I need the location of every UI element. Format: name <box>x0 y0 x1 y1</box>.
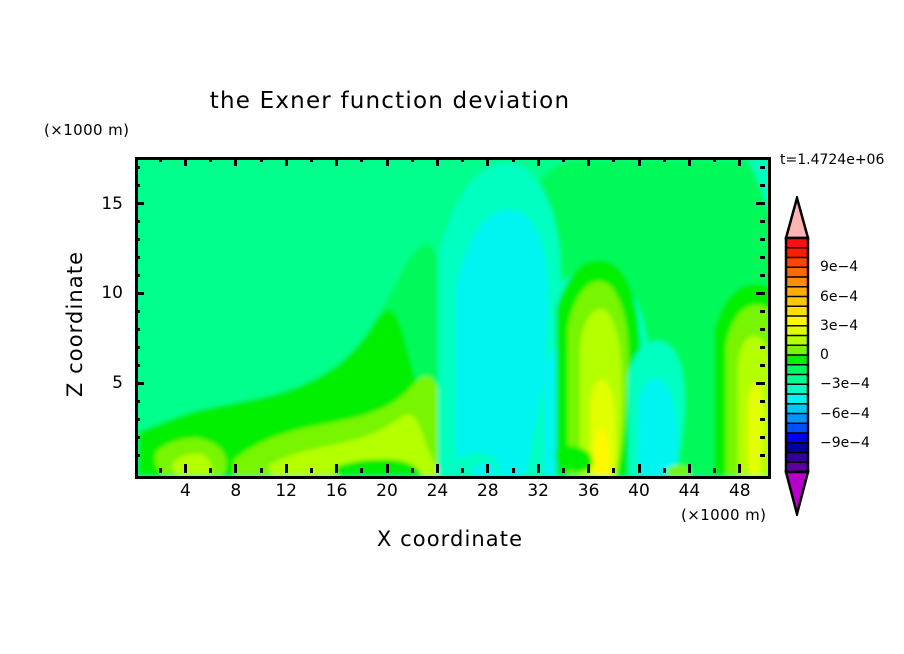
y-tick-minor <box>135 238 140 241</box>
y-tick-minor <box>135 220 140 223</box>
x-tick-label: 44 <box>679 481 701 501</box>
y-tick-major <box>135 382 144 385</box>
y-tick-major-right <box>756 382 765 385</box>
y-tick-minor-right <box>760 184 765 187</box>
colorbar-band <box>786 248 808 258</box>
y-tick-minor-right <box>760 400 765 403</box>
colorbar-tick-label: 3e−4 <box>820 318 858 334</box>
x-tick-major <box>638 464 641 473</box>
colorbar-band <box>786 404 808 414</box>
y-tick-minor-right <box>760 238 765 241</box>
y-tick-minor <box>135 256 140 259</box>
x-tick-label: 4 <box>180 481 191 501</box>
x-tick-minor <box>360 468 363 473</box>
colorbar-band <box>786 394 808 404</box>
x-tick-major <box>688 464 691 473</box>
x-tick-minor-top <box>461 157 464 162</box>
x-tick-minor <box>310 468 313 473</box>
x-tick-minor-top <box>159 157 162 162</box>
x-tick-minor-top <box>663 157 666 162</box>
colorbar-band <box>786 297 808 307</box>
timestamp-label: t=1.4724e+06 <box>780 152 884 168</box>
y-tick-minor-right <box>760 274 765 277</box>
y-tick-minor-right <box>760 328 765 331</box>
colorbar-band <box>786 453 808 463</box>
x-tick-label: 24 <box>427 481 449 501</box>
colorbar-band <box>786 306 808 316</box>
y-tick-minor <box>135 274 140 277</box>
colorbar-band <box>786 384 808 394</box>
x-tick-major-top <box>486 157 489 166</box>
y-tick-minor-right <box>760 418 765 421</box>
y-tick-minor <box>135 454 140 457</box>
colorbar-over-arrow <box>786 198 808 238</box>
x-tick-minor-top <box>713 157 716 162</box>
colorbar-tick-label: 6e−4 <box>820 289 858 305</box>
contour-field <box>138 160 768 476</box>
x-tick-minor-top <box>360 157 363 162</box>
x-tick-major <box>436 464 439 473</box>
x-tick-label: 20 <box>376 481 398 501</box>
x-tick-minor-top <box>260 157 263 162</box>
y-axis-unit-label: (×1000 m) <box>44 121 129 139</box>
y-tick-minor-right <box>760 364 765 367</box>
x-tick-label: 48 <box>729 481 751 501</box>
x-tick-major-top <box>587 157 590 166</box>
colorbar-band <box>786 433 808 443</box>
colorbar-tick-label: −3e−4 <box>820 376 870 392</box>
x-tick-minor <box>411 468 414 473</box>
colorbar-band <box>786 423 808 433</box>
x-axis-title: X coordinate <box>135 527 765 551</box>
y-tick-minor <box>135 418 140 421</box>
x-tick-minor <box>713 468 716 473</box>
colorbar: 9e−46e−43e−40−3e−4−6e−4−9e−4 <box>778 196 818 520</box>
y-tick-major <box>135 202 144 205</box>
x-tick-minor <box>663 468 666 473</box>
colorbar-band <box>786 238 808 248</box>
colorbar-band <box>786 258 808 268</box>
y-tick-minor-right <box>760 454 765 457</box>
x-tick-minor-top <box>310 157 313 162</box>
y-tick-minor-right <box>760 436 765 439</box>
y-tick-minor <box>135 166 140 169</box>
plot-area <box>135 157 771 479</box>
colorbar-band <box>786 345 808 355</box>
y-tick-minor <box>135 364 140 367</box>
y-tick-minor <box>135 346 140 349</box>
x-tick-major <box>335 464 338 473</box>
y-tick-minor <box>135 328 140 331</box>
x-tick-minor-top <box>562 157 565 162</box>
x-tick-label: 32 <box>527 481 549 501</box>
colorbar-band <box>786 443 808 453</box>
colorbar-band <box>786 277 808 287</box>
y-tick-major-right <box>756 292 765 295</box>
colorbar-tick-label: 9e−4 <box>820 259 858 275</box>
x-tick-minor <box>612 468 615 473</box>
x-tick-label: 16 <box>326 481 348 501</box>
colorbar-band <box>786 355 808 365</box>
colorbar-band <box>786 414 808 424</box>
x-tick-minor <box>260 468 263 473</box>
page-title: the Exner function deviation <box>0 88 780 114</box>
x-tick-major-top <box>386 157 389 166</box>
x-tick-minor-top <box>512 157 515 162</box>
colorbar-band <box>786 336 808 346</box>
x-tick-major <box>486 464 489 473</box>
y-tick-minor-right <box>760 220 765 223</box>
y-tick-minor <box>135 184 140 187</box>
x-tick-minor <box>512 468 515 473</box>
colorbar-tick-label: −9e−4 <box>820 435 870 451</box>
colorbar-band <box>786 326 808 336</box>
y-tick-major-right <box>756 202 765 205</box>
x-tick-minor-top <box>612 157 615 162</box>
x-tick-minor-top <box>411 157 414 162</box>
colorbar-under-arrow <box>786 472 808 514</box>
x-tick-major <box>234 464 237 473</box>
x-tick-major <box>587 464 590 473</box>
x-tick-label: 8 <box>230 481 241 501</box>
x-axis-unit-label: (×1000 m) <box>681 506 766 524</box>
colorbar-tick-label: 0 <box>820 347 829 363</box>
x-tick-major-top <box>285 157 288 166</box>
x-tick-major-top <box>537 157 540 166</box>
x-tick-minor-top <box>209 157 212 162</box>
x-tick-major <box>184 464 187 473</box>
colorbar-band <box>786 375 808 385</box>
colorbar-tick-label: −6e−4 <box>820 406 870 422</box>
colorbar-band <box>786 287 808 297</box>
y-tick-minor-right <box>760 346 765 349</box>
colorbar-band <box>786 267 808 277</box>
colorbar-band <box>786 365 808 375</box>
x-tick-major-top <box>436 157 439 166</box>
x-tick-label: 40 <box>628 481 650 501</box>
x-tick-major-top <box>335 157 338 166</box>
x-tick-major-top <box>638 157 641 166</box>
x-tick-major <box>386 464 389 473</box>
y-tick-minor <box>135 400 140 403</box>
y-tick-minor-right <box>760 166 765 169</box>
x-tick-label: 12 <box>275 481 297 501</box>
colorbar-band <box>786 316 808 326</box>
x-tick-major <box>537 464 540 473</box>
x-tick-major-top <box>688 157 691 166</box>
x-tick-minor <box>159 468 162 473</box>
x-tick-label: 28 <box>477 481 499 501</box>
y-tick-major <box>135 292 144 295</box>
x-tick-minor <box>461 468 464 473</box>
x-tick-major-top <box>184 157 187 166</box>
x-tick-minor <box>562 468 565 473</box>
y-tick-minor-right <box>760 256 765 259</box>
colorbar-gradient <box>778 196 818 516</box>
chart-canvas: the Exner function deviation (×1000 m) t… <box>0 0 904 654</box>
x-tick-major <box>738 464 741 473</box>
x-tick-major <box>285 464 288 473</box>
x-tick-major-top <box>234 157 237 166</box>
y-tick-minor <box>135 436 140 439</box>
y-tick-minor-right <box>760 310 765 313</box>
x-tick-label: 36 <box>578 481 600 501</box>
y-tick-minor <box>135 310 140 313</box>
x-tick-minor <box>209 468 212 473</box>
x-tick-major-top <box>738 157 741 166</box>
y-axis-title: Z coordinate <box>63 194 87 454</box>
